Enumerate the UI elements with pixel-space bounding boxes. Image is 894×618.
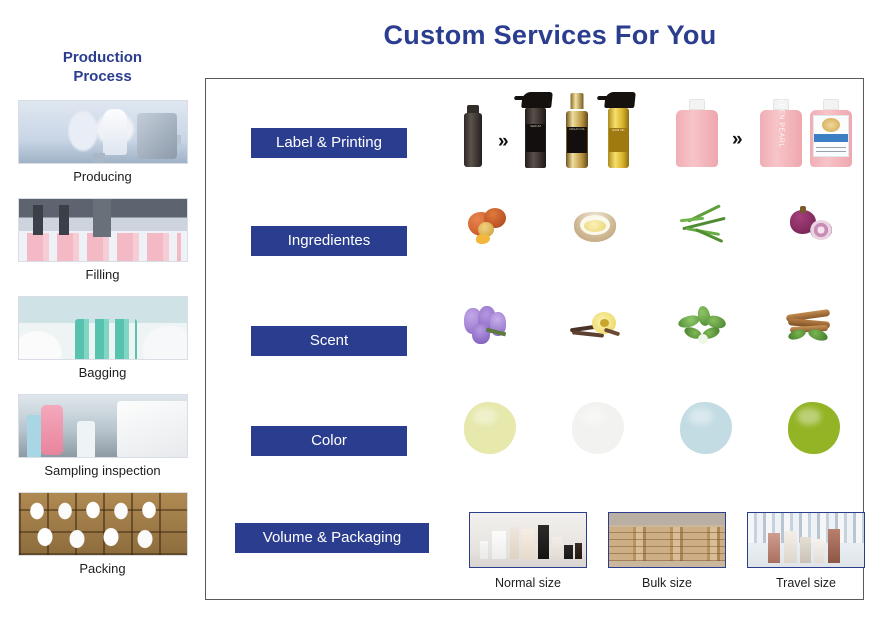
thumbnail-packing bbox=[18, 492, 188, 556]
bottle-label-text: SERUM bbox=[526, 124, 545, 152]
arrow-icon-dark: » bbox=[498, 131, 509, 153]
row-label-printing: Label & Printing » SERUM ARGAN OIL HAI bbox=[206, 79, 865, 184]
thumbnail-filling bbox=[18, 198, 188, 262]
plain-dark-bottle[interactable] bbox=[464, 105, 482, 167]
page-title: Custom Services For You bbox=[290, 20, 810, 51]
pink-bottle-white-label[interactable] bbox=[810, 99, 852, 167]
row-label-label-printing[interactable]: Label & Printing bbox=[251, 128, 407, 158]
packaging-item-bulk-size[interactable]: Bulk size bbox=[608, 512, 726, 590]
label-seal-icon bbox=[822, 118, 840, 132]
label-fine-print bbox=[816, 146, 845, 152]
photo-travel-size bbox=[747, 512, 865, 568]
sidebar-item-label: Filling bbox=[0, 267, 205, 283]
sidebar-title-line1: Production bbox=[30, 48, 175, 67]
cinnamon-stick-icon[interactable] bbox=[786, 306, 836, 348]
coconut-icon[interactable] bbox=[572, 206, 620, 248]
bottle-label-text: HAIR OIL bbox=[609, 128, 628, 152]
black-spray-bottle[interactable]: SERUM bbox=[525, 92, 546, 168]
production-process-sidebar: Production Process ProducingFillingBaggi… bbox=[0, 48, 205, 590]
sidebar-step-list: ProducingFillingBaggingSampling inspecti… bbox=[0, 100, 205, 577]
argan-nut-icon[interactable] bbox=[464, 206, 512, 248]
row-scent: Scent bbox=[206, 284, 865, 384]
sidebar-item-bagging[interactable]: Bagging bbox=[0, 296, 205, 381]
row-label-volume-packaging[interactable]: Volume & Packaging bbox=[235, 523, 429, 553]
white-label-sticker bbox=[813, 115, 848, 157]
row-color: Color bbox=[206, 384, 865, 484]
sidebar-item-label: Producing bbox=[0, 169, 205, 185]
plain-pink-bottle[interactable] bbox=[676, 99, 718, 167]
swatch-olive-green[interactable] bbox=[788, 402, 840, 454]
bottle-neck bbox=[689, 99, 705, 110]
vanilla-flower-icon[interactable] bbox=[570, 306, 620, 348]
sidebar-item-label: Bagging bbox=[0, 365, 205, 381]
sidebar-item-label: Sampling inspection bbox=[0, 463, 205, 479]
thumbnail-sampling-inspection bbox=[18, 394, 188, 458]
bottle-neck bbox=[823, 99, 839, 110]
row-label-color[interactable]: Color bbox=[251, 426, 407, 456]
rosemary-icon[interactable] bbox=[680, 206, 728, 248]
sidebar-item-filling[interactable]: Filling bbox=[0, 198, 205, 283]
gold-pump-bottle[interactable]: ARGAN OIL bbox=[566, 93, 588, 168]
sidebar-item-producing[interactable]: Producing bbox=[0, 100, 205, 185]
sage-leaf-icon[interactable] bbox=[678, 306, 728, 348]
sidebar-item-label: Packing bbox=[0, 561, 205, 577]
slide-root: Custom Services For You Production Proce… bbox=[0, 0, 894, 618]
thumbnail-producing bbox=[18, 100, 188, 164]
spray-cap-icon bbox=[604, 92, 636, 108]
sidebar-title-line2: Process bbox=[30, 67, 175, 86]
spray-cap-icon bbox=[521, 92, 553, 108]
arrow-icon-pink: » bbox=[732, 129, 743, 151]
swatch-pale-yellow[interactable] bbox=[464, 402, 516, 454]
lavender-icon[interactable] bbox=[462, 306, 512, 348]
red-onion-icon[interactable] bbox=[788, 206, 836, 248]
packaging-item-label: Travel size bbox=[747, 576, 865, 590]
photo-normal-size bbox=[469, 512, 587, 568]
row-ingredientes: Ingredientes bbox=[206, 184, 865, 284]
bottle-label-text: ARGAN OIL bbox=[567, 127, 587, 153]
label-band bbox=[814, 134, 847, 142]
sidebar-item-sampling-inspection[interactable]: Sampling inspection bbox=[0, 394, 205, 479]
bottle-body bbox=[464, 113, 482, 167]
custom-services-panel: Label & Printing » SERUM ARGAN OIL HAI bbox=[205, 78, 864, 600]
gold-spray-bottle[interactable]: HAIR OIL bbox=[608, 92, 629, 168]
packaging-item-travel-size[interactable]: Travel size bbox=[747, 512, 865, 590]
photo-bulk-size bbox=[608, 512, 726, 568]
thumbnail-bagging bbox=[18, 296, 188, 360]
swatch-white[interactable] bbox=[572, 402, 624, 454]
bottle-body bbox=[676, 110, 718, 167]
sidebar-title: Production Process bbox=[0, 48, 205, 86]
packaging-item-label: Bulk size bbox=[608, 576, 726, 590]
swatch-light-blue[interactable] bbox=[680, 402, 732, 454]
bottle-neck bbox=[571, 93, 584, 109]
row-volume-packaging: Volume & Packaging Normal sizeBulk sizeT… bbox=[206, 484, 865, 601]
row-label-scent[interactable]: Scent bbox=[251, 326, 407, 356]
row-label-ingredientes[interactable]: Ingredientes bbox=[251, 226, 407, 256]
packaging-item-normal-size[interactable]: Normal size bbox=[469, 512, 587, 590]
packaging-item-label: Normal size bbox=[469, 576, 587, 590]
pink-bottle-screen-print[interactable]: GOLDEN PEARL bbox=[760, 99, 802, 167]
screen-print-text: GOLDEN PEARL bbox=[778, 87, 785, 147]
sidebar-item-packing[interactable]: Packing bbox=[0, 492, 205, 577]
